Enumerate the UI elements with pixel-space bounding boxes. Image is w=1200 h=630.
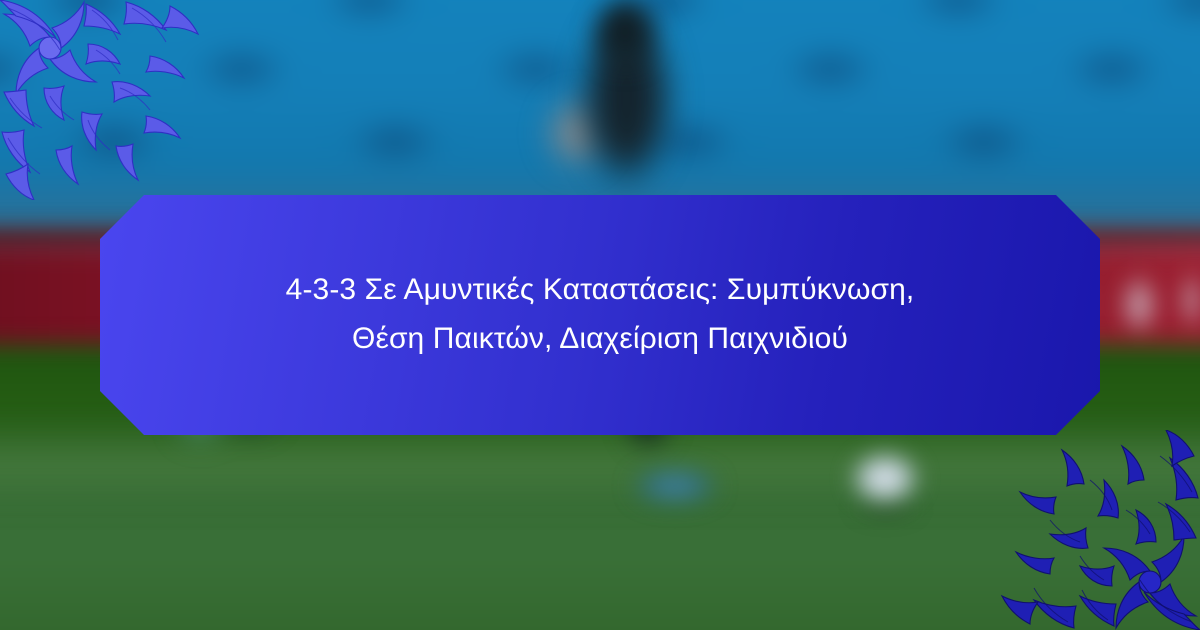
page-title: 4-3-3 Σε Αμυντικές Καταστάσεις: Συμπύκνω…	[210, 266, 990, 363]
share-card: 4-3-3 Σε Αμυντικές Καταστάσεις: Συμπύκνω…	[0, 0, 1200, 630]
ornament-top-left	[0, 0, 200, 200]
football-icon	[832, 436, 938, 524]
title-banner: 4-3-3 Σε Αμυντικές Καταστάσεις: Συμπύκνω…	[100, 195, 1100, 435]
ornament-bottom-right	[1000, 430, 1200, 630]
player-head	[580, 0, 670, 82]
player-boot	[620, 460, 730, 512]
